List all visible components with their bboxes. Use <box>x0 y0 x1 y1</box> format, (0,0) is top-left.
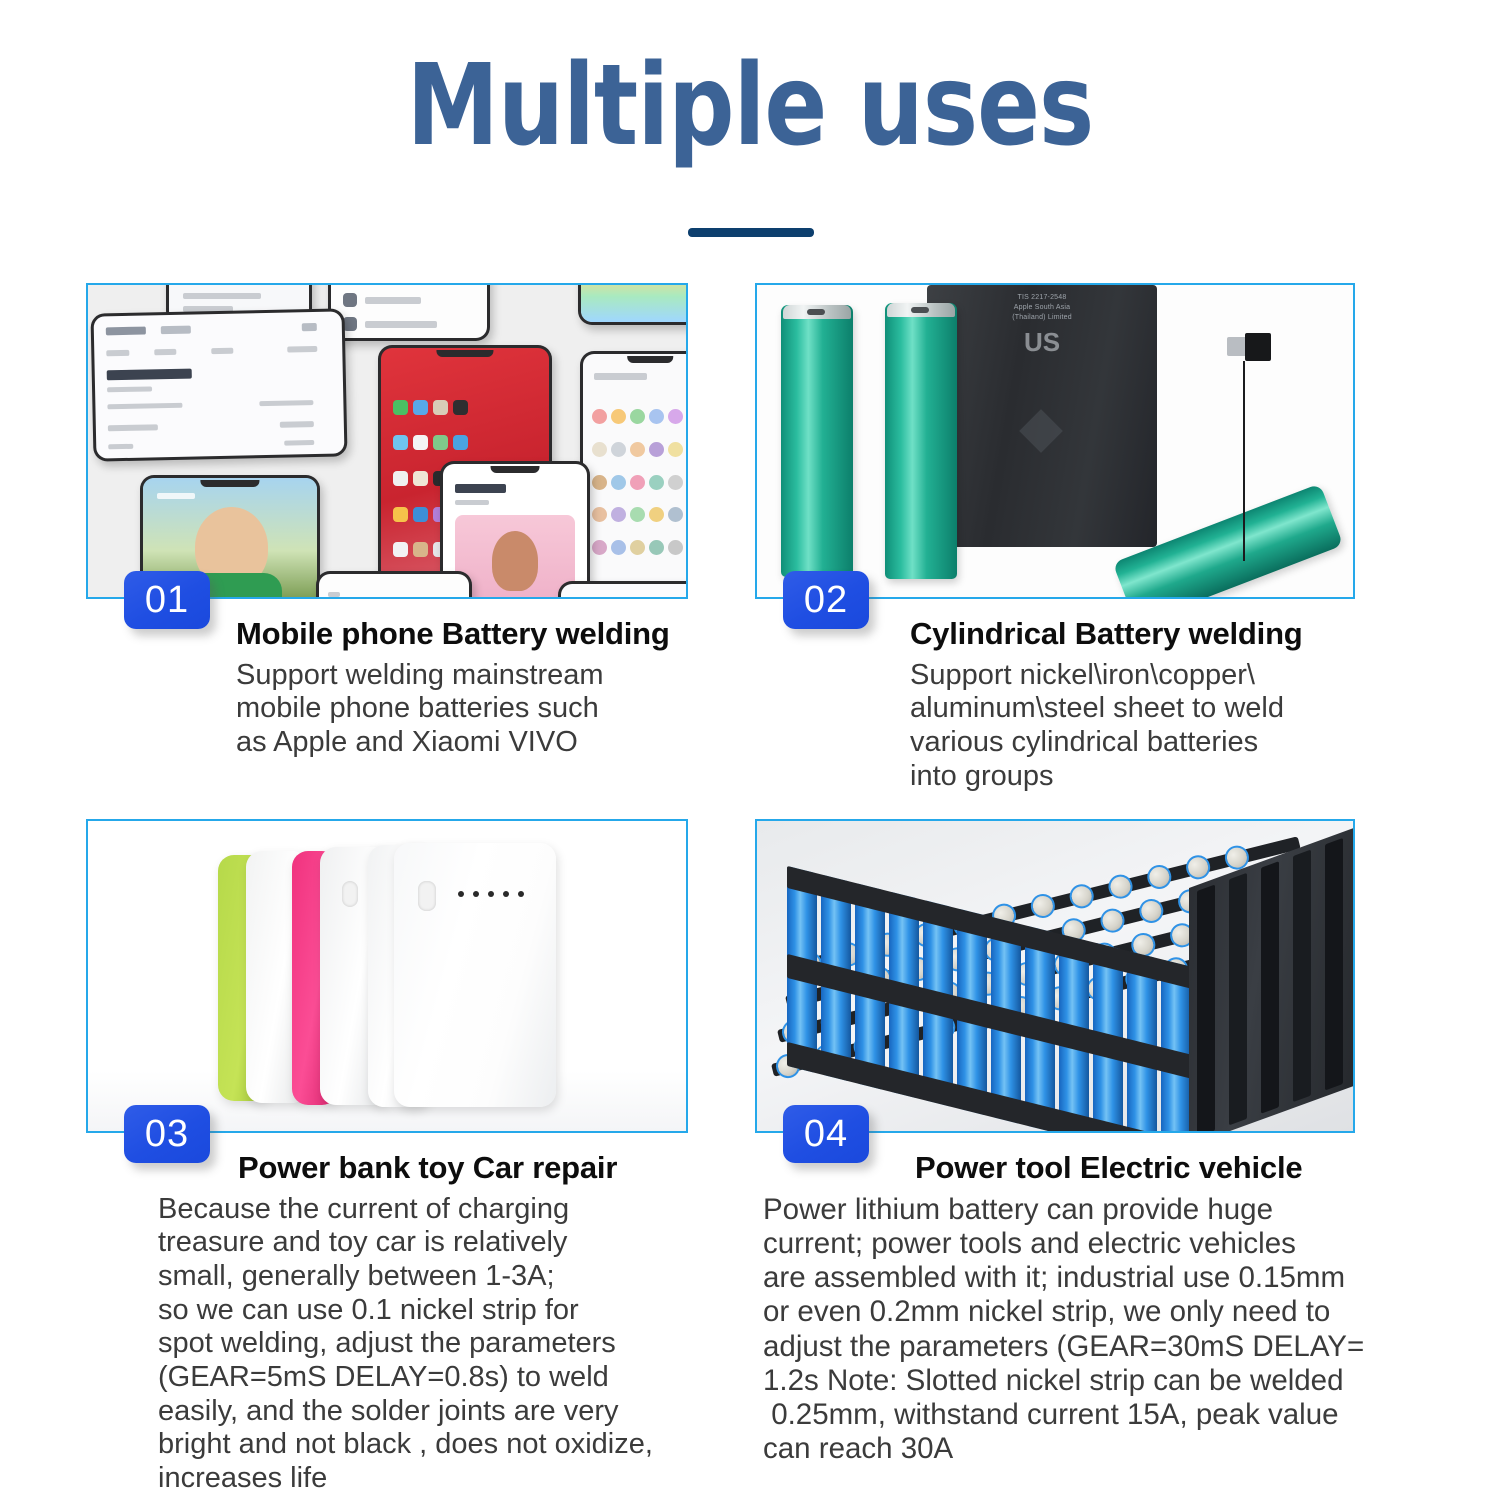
card-02-body-line: aluminum\steel sheet to weld <box>910 692 1355 726</box>
cell-terminal <box>887 303 955 317</box>
18650-battery-pack-photo <box>757 821 1353 1131</box>
card-01-body-line: as Apple and Xiaomi VIVO <box>236 726 688 760</box>
card-04-body-line: or even 0.2mm nickel strip, we only need… <box>763 1295 1355 1329</box>
card-02-body-line: Support nickel\iron\copper\ <box>910 659 1355 693</box>
pouch-label-line: Apple South Asia <box>927 303 1157 313</box>
card-03-heading-line-1: Power bank toy <box>238 1150 464 1185</box>
card-01-heading-line-1: Mobile phone <box>236 616 433 651</box>
cylindrical-cell-2 <box>885 303 957 579</box>
title-underline-rule <box>688 228 814 237</box>
pouch-battery-label: TIS 2217-2548 Apple South Asia (Thailand… <box>927 293 1157 323</box>
card-03-text: Power bank toy Car repair Because the cu… <box>86 1133 688 1495</box>
card-04-body-line: current; power tools and electric vehicl… <box>763 1227 1355 1261</box>
card-01-image-frame <box>86 283 688 599</box>
card-01-body-line: Support welding mainstream <box>236 659 688 693</box>
card-04-body: Power lithium battery can provide huge c… <box>755 1193 1355 1467</box>
pouch-label-line: (Thailand) Limited <box>927 313 1157 323</box>
power-banks-row-photo <box>88 821 686 1131</box>
card-02-body-line: various cylindrical batteries <box>910 726 1355 760</box>
card-04-heading-line-2: Electric vehicle <box>1080 1150 1303 1185</box>
card-04-body-line: adjust the parameters (GEAR=30mS DELAY= <box>763 1330 1355 1364</box>
card-03-body-line: spot welding, adjust the parameters <box>158 1327 688 1361</box>
card-04-heading-line-1: Power tool <box>915 1150 1071 1185</box>
use-card-03: 03 Power bank toy Car repair Because the… <box>86 819 688 1495</box>
card-02-body: Support nickel\iron\copper\ aluminum\ste… <box>755 659 1355 794</box>
multiple-uses-infographic: Multiple uses <box>0 0 1500 1500</box>
card-04-text: Power tool Electric vehicle Power lithiu… <box>755 1133 1355 1467</box>
cell-terminal <box>783 305 851 319</box>
power-button <box>342 881 358 907</box>
card-03-body-line: treasure and toy car is relatively <box>158 1226 688 1260</box>
card-03-number-badge: 03 <box>124 1105 210 1163</box>
card-03-body-line: bright and not black , does not oxidize, <box>158 1428 688 1462</box>
card-04-body-line: can reach 30A <box>763 1432 1355 1466</box>
ul-certification-mark: US <box>1024 327 1060 358</box>
card-01-body: Support welding mainstream mobile phone … <box>86 659 688 760</box>
power-button <box>418 881 436 911</box>
card-01-number-badge: 01 <box>124 571 210 629</box>
card-04-body-line: 1.2s Note: Slotted nickel strip can be w… <box>763 1364 1355 1398</box>
card-02-number-badge: 02 <box>783 571 869 629</box>
battery-level-leds <box>458 891 524 897</box>
use-card-02: TIS 2217-2548 Apple South Asia (Thailand… <box>755 283 1355 793</box>
card-02-heading-line-1: Cylindrical <box>910 616 1066 651</box>
pouch-label-line: TIS 2217-2548 <box>927 293 1157 303</box>
page-title: Multiple uses <box>60 48 1440 166</box>
card-04-number-badge: 04 <box>783 1105 869 1163</box>
nickel-tab-connector <box>1227 333 1271 363</box>
use-card-01: 01 Mobile phone Battery welding Support … <box>86 283 688 760</box>
use-card-04: 04 Power tool Electric vehicle Power lit… <box>755 819 1355 1467</box>
card-03-body-line: Because the current of charging <box>158 1193 688 1227</box>
card-04-body-line: Power lithium battery can provide huge <box>763 1193 1355 1227</box>
card-03-body-line: increases life <box>158 1462 688 1496</box>
card-02-body-line: into groups <box>910 760 1355 794</box>
cylindrical-cell-1 <box>781 305 853 577</box>
power-bank-front-white <box>394 843 556 1107</box>
card-03-body-line: easily, and the solder joints are very <box>158 1395 688 1429</box>
card-03-body-line: small, generally between 1-3A; <box>158 1260 688 1294</box>
card-03-body-line: (GEAR=5mS DELAY=0.8s) to weld <box>158 1361 688 1395</box>
card-03-image-frame <box>86 819 688 1133</box>
card-03-heading-line-2: Car repair <box>473 1150 617 1185</box>
card-03-body: Because the current of charging treasure… <box>86 1193 688 1496</box>
pouch-battery: TIS 2217-2548 Apple South Asia (Thailand… <box>927 285 1157 547</box>
card-03-body-line: so we can use 0.1 nickel strip for <box>158 1294 688 1328</box>
card-02-image-frame: TIS 2217-2548 Apple South Asia (Thailand… <box>755 283 1355 599</box>
card-04-image-frame <box>755 819 1355 1133</box>
uses-card-grid: 01 Mobile phone Battery welding Support … <box>0 283 1500 1498</box>
card-04-body-line: are assembled with it; industrial use 0.… <box>763 1261 1355 1295</box>
pouch-battery-logo: ◆ <box>1020 395 1064 458</box>
card-01-body-line: mobile phone batteries such <box>236 692 688 726</box>
card-02-heading-line-2: Battery welding <box>1075 616 1303 651</box>
green-cylindrical-cells-photo: TIS 2217-2548 Apple South Asia (Thailand… <box>757 285 1353 597</box>
card-01-heading-line-2: Battery welding <box>442 616 670 651</box>
card-04-body-line: 0.25mm, withstand current 15A, peak valu… <box>763 1398 1355 1432</box>
mobile-phones-grid-photo <box>88 285 686 597</box>
